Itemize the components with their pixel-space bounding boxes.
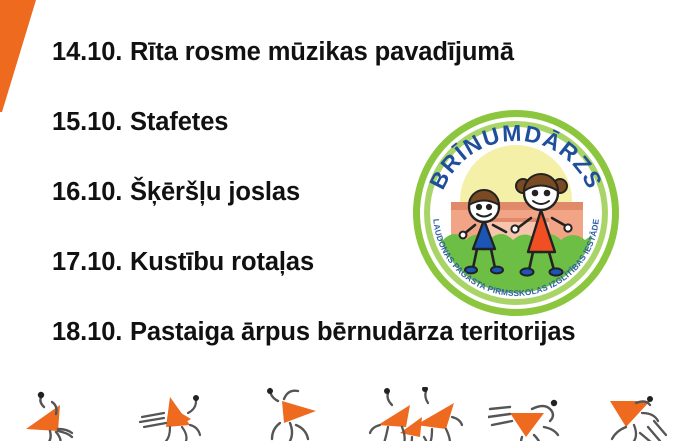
agenda-item-text: Stafetes — [130, 108, 228, 137]
agenda-item-text: Rīta rosme mūzikas pavadījumā — [130, 38, 514, 67]
runner-figure-2 — [136, 387, 226, 441]
agenda-item-text: Šķēršļu joslas — [130, 178, 300, 207]
runner-figure-4 — [366, 387, 476, 441]
runner-figure-6 — [596, 387, 696, 441]
agenda-item-date: 14.10. — [52, 38, 122, 67]
agenda-item-date: 15.10. — [52, 108, 122, 137]
agenda-item: 14.10. Rīta rosme mūzikas pavadījumā — [52, 38, 648, 108]
agenda-item: 18.10. Pastaiga ārpus bērnudārza teritor… — [52, 318, 648, 388]
agenda-item-date: 16.10. — [52, 178, 122, 207]
runner-figure-1 — [14, 387, 94, 441]
orange-corner-wedge — [0, 0, 46, 112]
agenda-item-text: Pastaiga ārpus bērnudārza teritorijas — [130, 318, 576, 347]
runner-figure-5 — [488, 387, 588, 441]
agenda-item-date: 18.10. — [52, 318, 122, 347]
slide-canvas: 14.10. Rīta rosme mūzikas pavadījumā 15.… — [0, 0, 700, 441]
agenda-item-text: Kustību rotaļas — [130, 248, 314, 277]
runner-figure-3 — [256, 387, 346, 441]
running-figures-strip — [0, 385, 700, 441]
brinumdarzs-logo: BRĪNUMDĀRZS LAUDONAS PAGASTA PIRMSSKOLAS… — [411, 108, 621, 318]
agenda-item-date: 17.10. — [52, 248, 122, 277]
